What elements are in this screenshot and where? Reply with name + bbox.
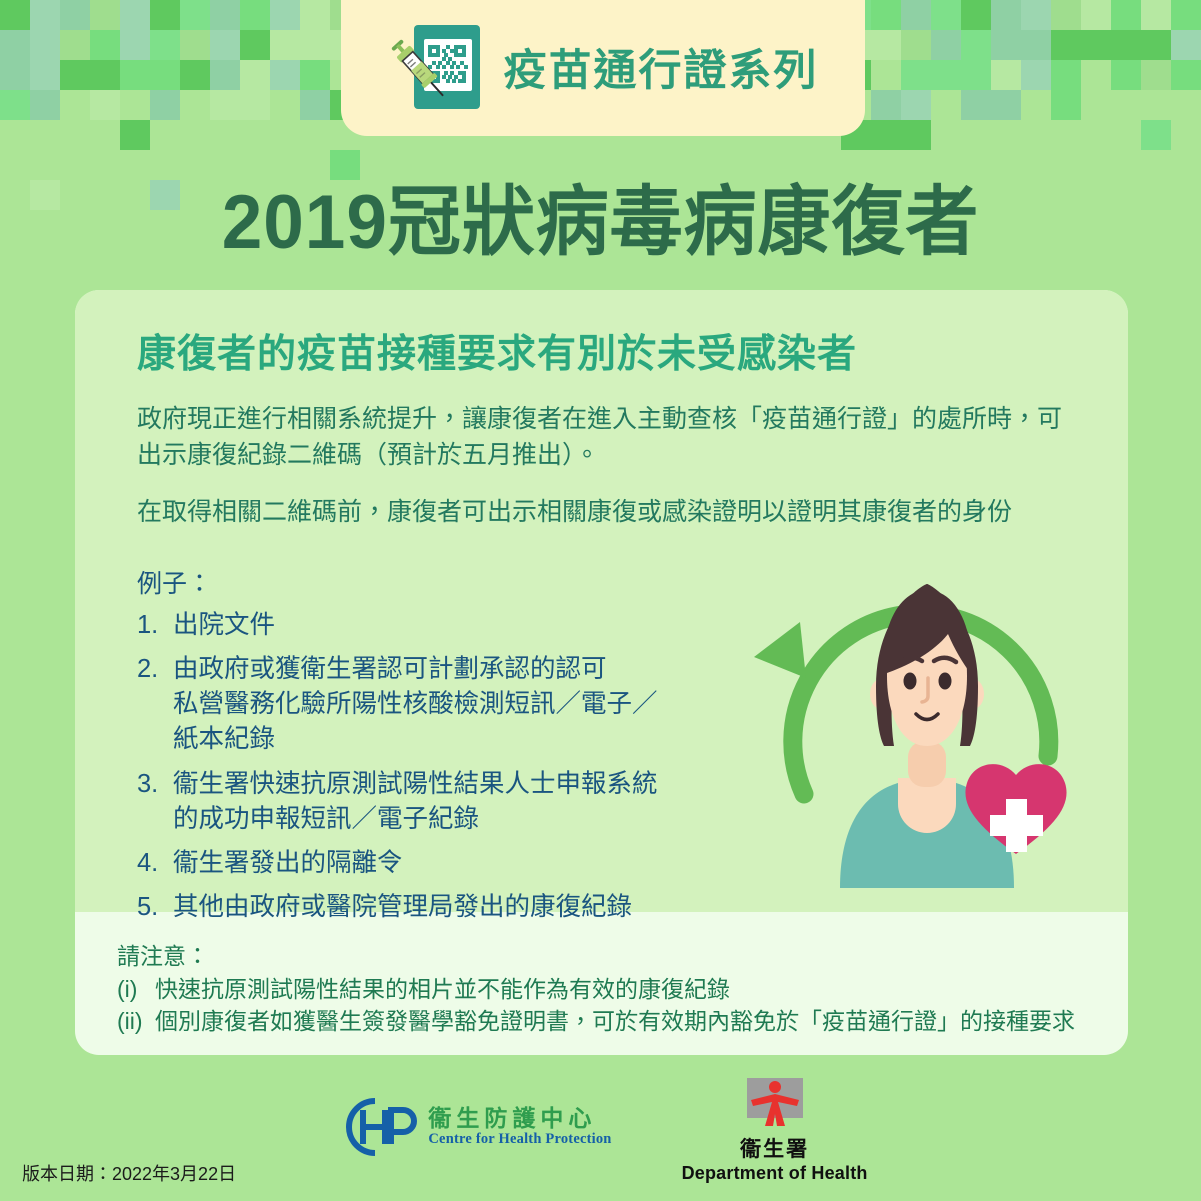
doh-name-zh: 衞生署 <box>682 1133 868 1163</box>
list-item-number: 2. <box>137 652 163 758</box>
infographic-page: 疫苗通行證系列 2019冠狀病毒病康復者 康復者的疫苗接種要求有別於未受感染者 … <box>0 0 1201 1201</box>
list-item: 4. 衞生署發出的隔離令 <box>137 846 737 881</box>
chp-name-zh: 衞生防護中心 <box>428 1106 611 1131</box>
notes-section: 請注意： (i) 快速抗原測試陽性結果的相片並不能作為有效的康復紀錄 (ii) … <box>75 912 1128 1038</box>
syringe-qr-code-icon <box>388 21 484 113</box>
syringe-icon <box>388 27 450 111</box>
list-item: 2. 由政府或獲衛生署認可計劃承認的認可 私營醫務化驗所陽性核酸檢測短訊／電子／… <box>137 652 737 758</box>
list-item-number: 1. <box>137 608 163 643</box>
section-heading: 康復者的疫苗接種要求有別於未受感染者 <box>137 323 1076 379</box>
examples-list: 1. 出院文件 2. 由政府或獲衛生署認可計劃承認的認可 私營醫務化驗所陽性核酸… <box>137 608 737 926</box>
banner-title: 疫苗通行證系列 <box>504 36 819 98</box>
paragraph-2: 在取得相關二維碼前，康復者可出示相關康復或感染證明以證明其康復者的身份 <box>137 494 1067 530</box>
note-item: (ii) 個別康復者如獲醫生簽發醫學豁免證明書，可於有效期內豁免於「疫苗通行證」… <box>117 1005 1088 1038</box>
list-item: 3. 衞生署快速抗原測試陽性結果人士申報系統 的成功申報短訊／電子紀錄 <box>137 767 737 837</box>
list-item-text: 衞生署發出的隔離令 <box>173 846 403 881</box>
mosaic-pattern-left <box>0 0 360 185</box>
notes-title: 請注意： <box>117 940 209 973</box>
list-item: 1. 出院文件 <box>137 608 737 643</box>
paragraph-1: 政府現正進行相關系統提升，讓康復者在進入主動查核「疫苗通行證」的處所時，可出示康… <box>137 401 1067 474</box>
chp-mark-icon <box>333 1096 419 1158</box>
chp-name-en: Centre for Health Protection <box>428 1131 611 1148</box>
doh-mark-icon <box>747 1078 803 1126</box>
list-item-number: 3. <box>137 767 163 837</box>
chp-logo: 衞生防護中心 Centre for Health Protection <box>333 1096 611 1158</box>
note-marker: (i) <box>117 973 147 1006</box>
doh-name-en: Department of Health <box>682 1163 868 1184</box>
note-item: (i) 快速抗原測試陽性結果的相片並不能作為有效的康復紀錄 <box>117 973 1088 1006</box>
series-banner: 疫苗通行證系列 <box>341 0 865 136</box>
page-title: 2019冠狀病毒病康復者 <box>24 160 1177 270</box>
list-item-number: 4. <box>137 846 163 881</box>
note-text: 快速抗原測試陽性結果的相片並不能作為有效的康復紀錄 <box>155 973 730 1006</box>
list-item-text: 由政府或獲衛生署認可計劃承認的認可 私營醫務化驗所陽性核酸檢測短訊／電子／ 紙本… <box>173 652 658 758</box>
doh-logo: 衞生署 Department of Health <box>682 1078 868 1184</box>
notes-title-row: 請注意： <box>117 940 1088 973</box>
version-date: 版本日期：2022年3月22日 <box>22 1160 236 1186</box>
recovered-person-illustration <box>748 526 1106 888</box>
list-item-text: 出院文件 <box>173 608 275 643</box>
main-panel: 康復者的疫苗接種要求有別於未受感染者 政府現正進行相關系統提升，讓康復者在進入主… <box>75 290 1128 912</box>
content-card: 康復者的疫苗接種要求有別於未受感染者 政府現正進行相關系統提升，讓康復者在進入主… <box>75 290 1128 1055</box>
note-marker: (ii) <box>117 1005 147 1038</box>
note-text: 個別康復者如獲醫生簽發醫學豁免證明書，可於有效期內豁免於「疫苗通行證」的接種要求 <box>155 1005 1075 1038</box>
mosaic-pattern-right <box>841 0 1201 185</box>
list-item-text: 衞生署快速抗原測試陽性結果人士申報系統 的成功申報短訊／電子紀錄 <box>173 767 658 837</box>
